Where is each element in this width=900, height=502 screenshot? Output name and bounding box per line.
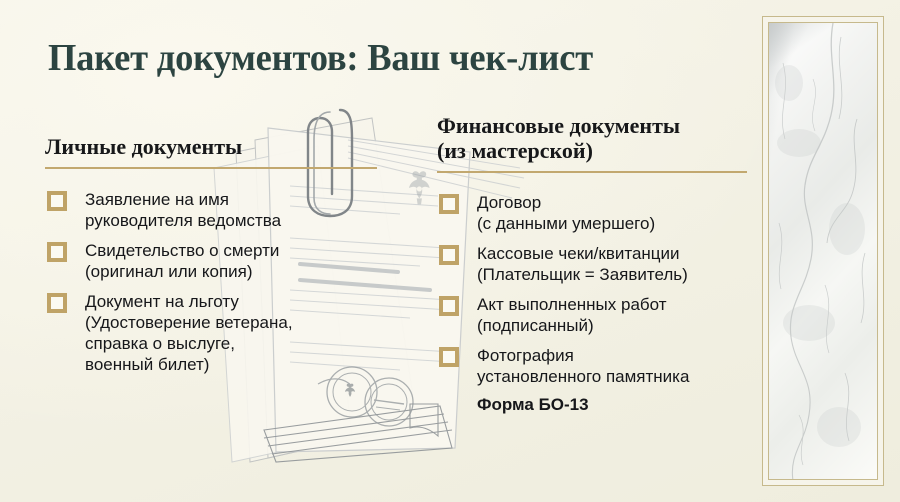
slide-canvas: Пакет документов: Ваш чек-лист Личные до… bbox=[0, 0, 900, 502]
list-item[interactable]: Кассовые чеки/квитанции (Плательщик = За… bbox=[437, 243, 755, 285]
checkbox-icon[interactable] bbox=[439, 347, 459, 367]
column-heading-left-line1: Личные документы bbox=[45, 134, 385, 159]
column-financial-documents: Финансовые документы (из мастерской) Дог… bbox=[437, 113, 755, 415]
marble-decorative-panel bbox=[762, 16, 884, 486]
checkbox-icon[interactable] bbox=[47, 242, 67, 262]
list-item-line: (подписанный) bbox=[477, 315, 755, 336]
list-item-line: установленного памятника bbox=[477, 366, 755, 387]
form-note: Форма БО-13 bbox=[477, 394, 755, 415]
list-item-line: справка о выслуге, bbox=[85, 333, 385, 354]
checklist-personal: Заявление на имя руководителя ведомства … bbox=[45, 189, 385, 375]
column-divider-left bbox=[45, 167, 377, 169]
marble-texture bbox=[768, 22, 878, 480]
list-item-line: Документ на льготу bbox=[85, 291, 385, 312]
double-headed-eagle-emblem bbox=[409, 171, 430, 204]
column-heading-right-line2: (из мастерской) bbox=[437, 138, 755, 163]
list-item[interactable]: Документ на льготу (Удостоверение ветера… bbox=[45, 291, 385, 375]
list-item-line: руководителя ведомства bbox=[85, 210, 385, 231]
column-heading-left: Личные документы bbox=[45, 113, 385, 159]
checkbox-icon[interactable] bbox=[439, 194, 459, 214]
column-personal-documents: Личные документы Заявление на имя руково… bbox=[45, 113, 385, 384]
checklist-financial: Договор (с данными умершего) Кассовые че… bbox=[437, 192, 755, 387]
list-item[interactable]: Фотография установленного памятника bbox=[437, 345, 755, 387]
column-heading-right: Финансовые документы (из мастерской) bbox=[437, 113, 755, 163]
list-item-line: Свидетельство о смерти bbox=[85, 240, 385, 261]
list-item-line: Кассовые чеки/квитанции bbox=[477, 243, 755, 264]
column-divider-right bbox=[437, 171, 747, 173]
marble-veins bbox=[769, 23, 878, 480]
column-heading-right-line1: Финансовые документы bbox=[437, 113, 755, 138]
list-item-line: Акт выполненных работ bbox=[477, 294, 755, 315]
page-title: Пакет документов: Ваш чек-лист bbox=[48, 36, 720, 80]
list-item[interactable]: Акт выполненных работ (подписанный) bbox=[437, 294, 755, 336]
list-item-line: (Плательщик = Заявитель) bbox=[477, 264, 755, 285]
list-item-line: Заявление на имя bbox=[85, 189, 385, 210]
checkbox-icon[interactable] bbox=[47, 191, 67, 211]
list-item-line: Договор bbox=[477, 192, 755, 213]
list-item[interactable]: Договор (с данными умершего) bbox=[437, 192, 755, 234]
list-item-line: Фотография bbox=[477, 345, 755, 366]
list-item-line: военный билет) bbox=[85, 354, 385, 375]
checkbox-icon[interactable] bbox=[439, 245, 459, 265]
list-item-line: (с данными умершего) bbox=[477, 213, 755, 234]
list-item-line: (Удостоверение ветерана, bbox=[85, 312, 385, 333]
list-item[interactable]: Свидетельство о смерти (оригинал или коп… bbox=[45, 240, 385, 282]
checkbox-icon[interactable] bbox=[439, 296, 459, 316]
list-item[interactable]: Заявление на имя руководителя ведомства bbox=[45, 189, 385, 231]
checkbox-icon[interactable] bbox=[47, 293, 67, 313]
list-item-line: (оригинал или копия) bbox=[85, 261, 385, 282]
